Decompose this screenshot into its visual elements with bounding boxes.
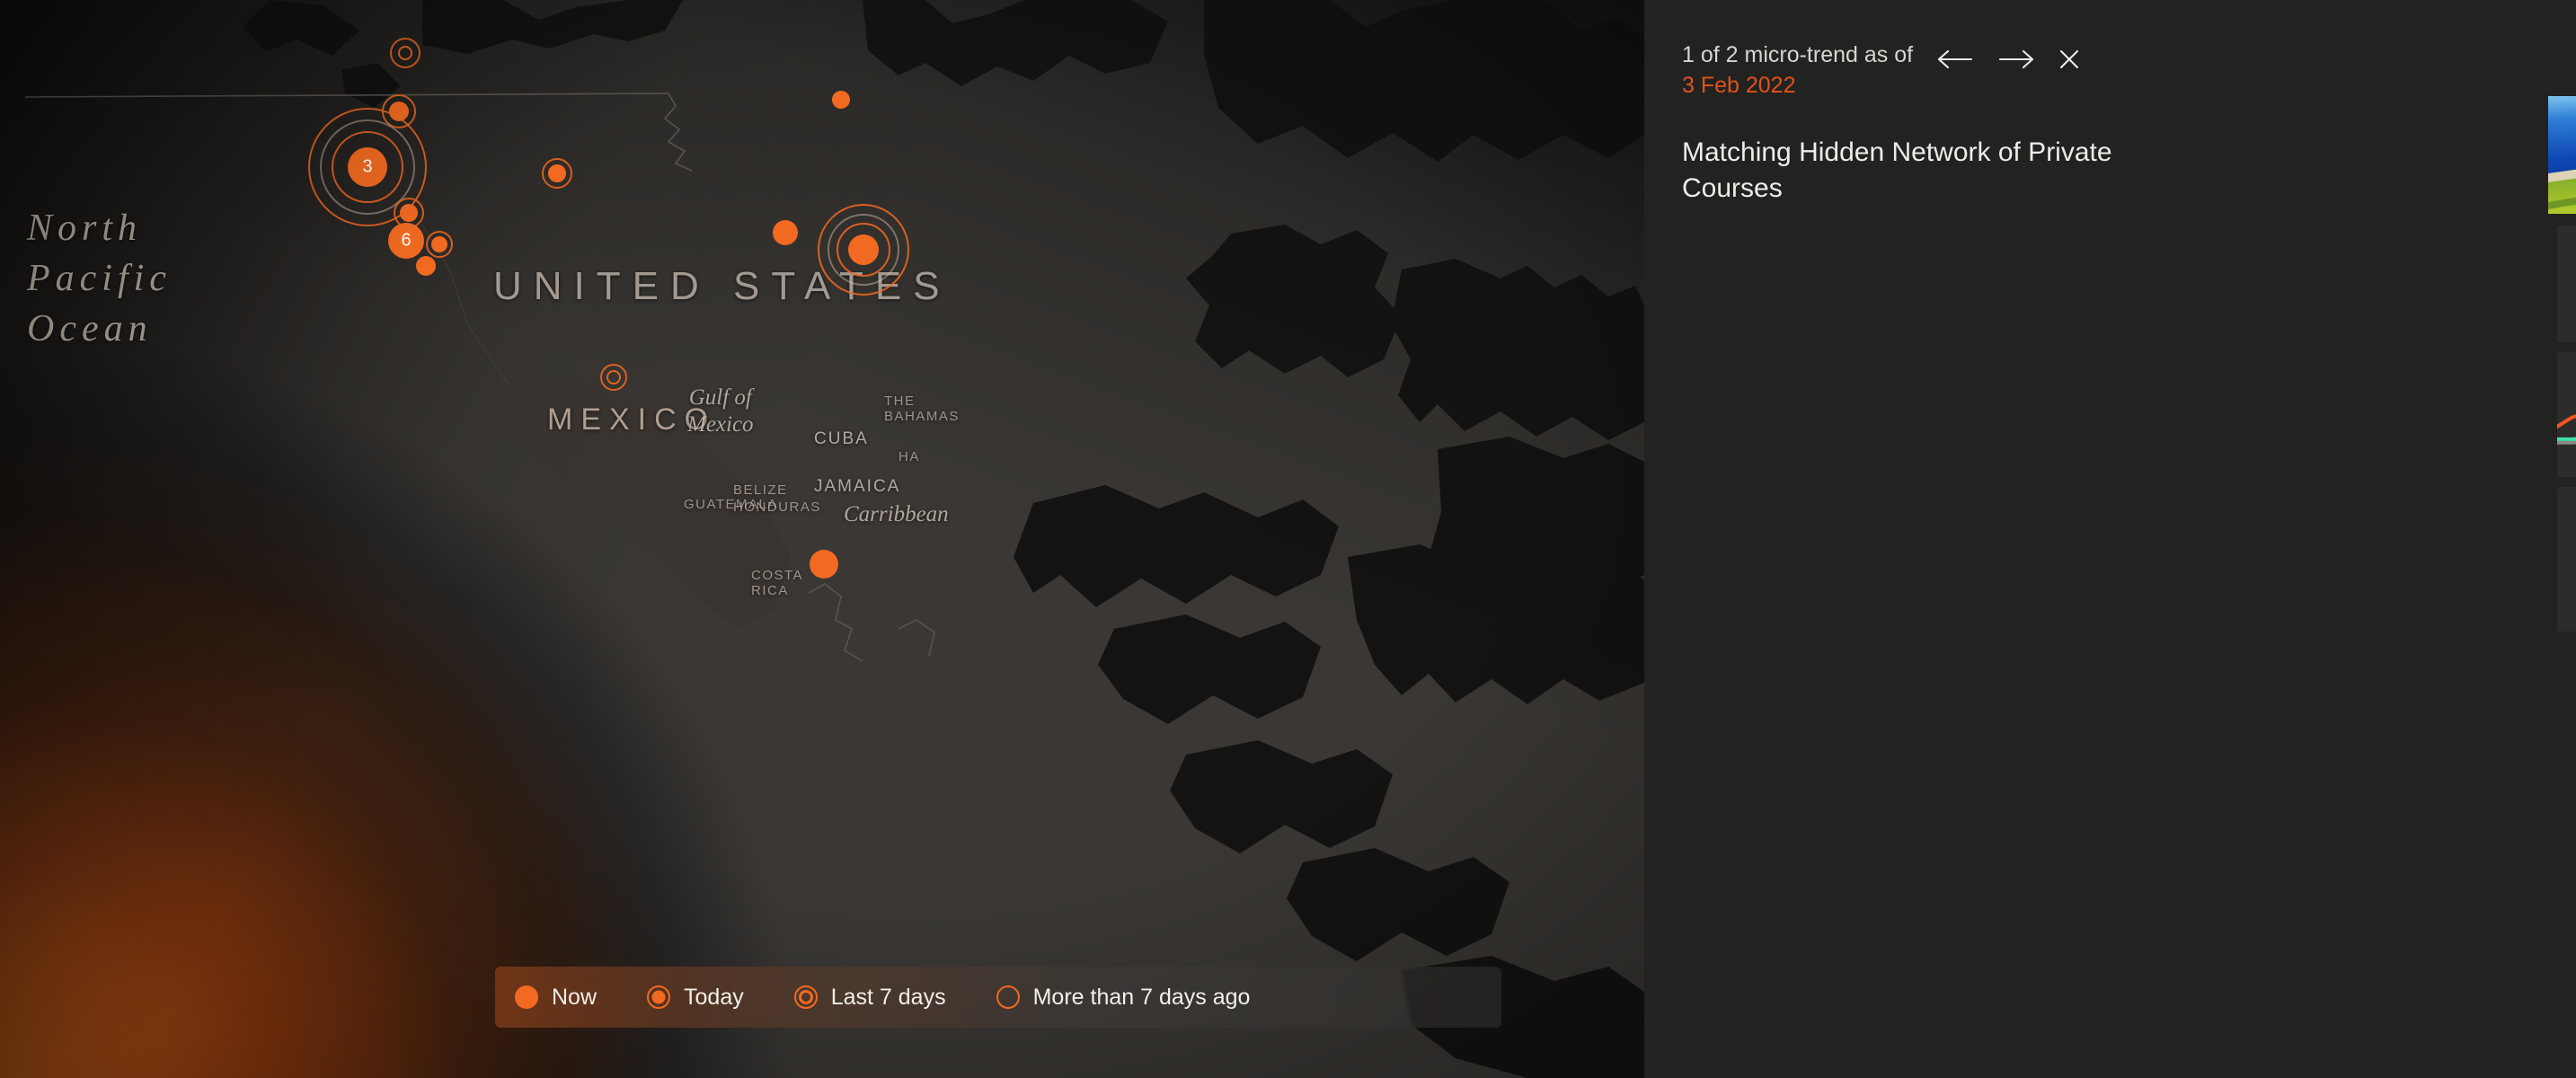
arrow-left-icon[interactable] xyxy=(1934,47,1976,72)
trend-line-chart xyxy=(2557,352,2576,477)
marker-dot xyxy=(848,234,879,265)
series-mentions xyxy=(2557,369,2576,443)
marker-dot xyxy=(400,204,418,222)
panel-nav[interactable] xyxy=(1934,47,2082,72)
marker-arizona[interactable] xyxy=(413,253,438,278)
arrow-right-icon[interactable] xyxy=(1996,47,2037,72)
legend-today[interactable]: Today xyxy=(645,984,744,1011)
legend-label: More than 7 days ago xyxy=(1033,985,1251,1011)
legend-label: Now xyxy=(552,985,597,1011)
dot-with-ring-icon xyxy=(645,984,672,1011)
close-icon[interactable] xyxy=(2057,47,2082,72)
filled-dot-icon xyxy=(513,984,540,1011)
marker-dot xyxy=(773,220,798,245)
double-ring-icon xyxy=(792,984,819,1011)
panel-cards: 67,7 % Compared to theprevious period 22… xyxy=(2557,225,2576,632)
marker-count: 6 xyxy=(401,231,411,252)
marker-montana[interactable] xyxy=(539,155,575,191)
legend-more-than-7-days[interactable]: More than 7 days ago xyxy=(995,984,1251,1011)
map-landmass-layer xyxy=(0,0,1644,1078)
marker-dot xyxy=(606,370,621,384)
panel-counter-text: 1 of 2 micro-trend as of xyxy=(1682,42,1913,67)
marker-dot xyxy=(416,256,436,276)
marker-dot xyxy=(832,91,850,109)
world-map[interactable]: NorthPacificOcean UNITED STATESMEXICOGul… xyxy=(0,0,1644,1078)
panel-date: 3 Feb 2022 xyxy=(1682,70,1913,101)
marker-minnesota[interactable] xyxy=(829,88,853,111)
marker-texas[interactable] xyxy=(770,217,801,248)
page-title: Matching Hidden Network of Private Cours… xyxy=(1682,135,2185,207)
legend-label: Last 7 days xyxy=(831,985,946,1011)
marker-panama[interactable] xyxy=(807,547,841,581)
marker-count: 3 xyxy=(362,157,372,178)
marker-baja[interactable] xyxy=(598,361,630,393)
marker-dot xyxy=(431,236,447,252)
legend-last-7-days[interactable]: Last 7 days xyxy=(792,984,946,1011)
panel-header: 1 of 2 micro-trend as of 3 Feb 2022 xyxy=(1644,0,2576,207)
trend-line-chart-card[interactable]: Feb 16Feb 17Feb 18 xyxy=(2557,352,2576,477)
volume-donut-card[interactable]: 67,7 % Compared to theprevious period 22… xyxy=(2557,225,2576,342)
legend-label: Today xyxy=(684,985,744,1011)
marker-pacific-nw[interactable] xyxy=(387,35,423,71)
trend-thumbnail[interactable] xyxy=(2548,96,2576,214)
hollow-ring-icon xyxy=(995,984,1022,1011)
trend-detail-panel[interactable]: 1 of 2 micro-trend as of 3 Feb 2022 xyxy=(1644,0,2576,1078)
marker-dot xyxy=(548,164,566,182)
marker-new-york[interactable] xyxy=(815,201,912,298)
panel-counter: 1 of 2 micro-trend as of 3 Feb 2022 xyxy=(1682,40,1913,101)
map-legend[interactable]: NowTodayLast 7 daysMore than 7 days ago xyxy=(495,967,1501,1028)
marker-dot xyxy=(810,550,838,579)
marker-dot xyxy=(398,46,412,60)
legend-now[interactable]: Now xyxy=(513,984,597,1011)
keyword-cloud-card[interactable]: clubhousesNorth Americaprivate golf club… xyxy=(2557,487,2576,632)
